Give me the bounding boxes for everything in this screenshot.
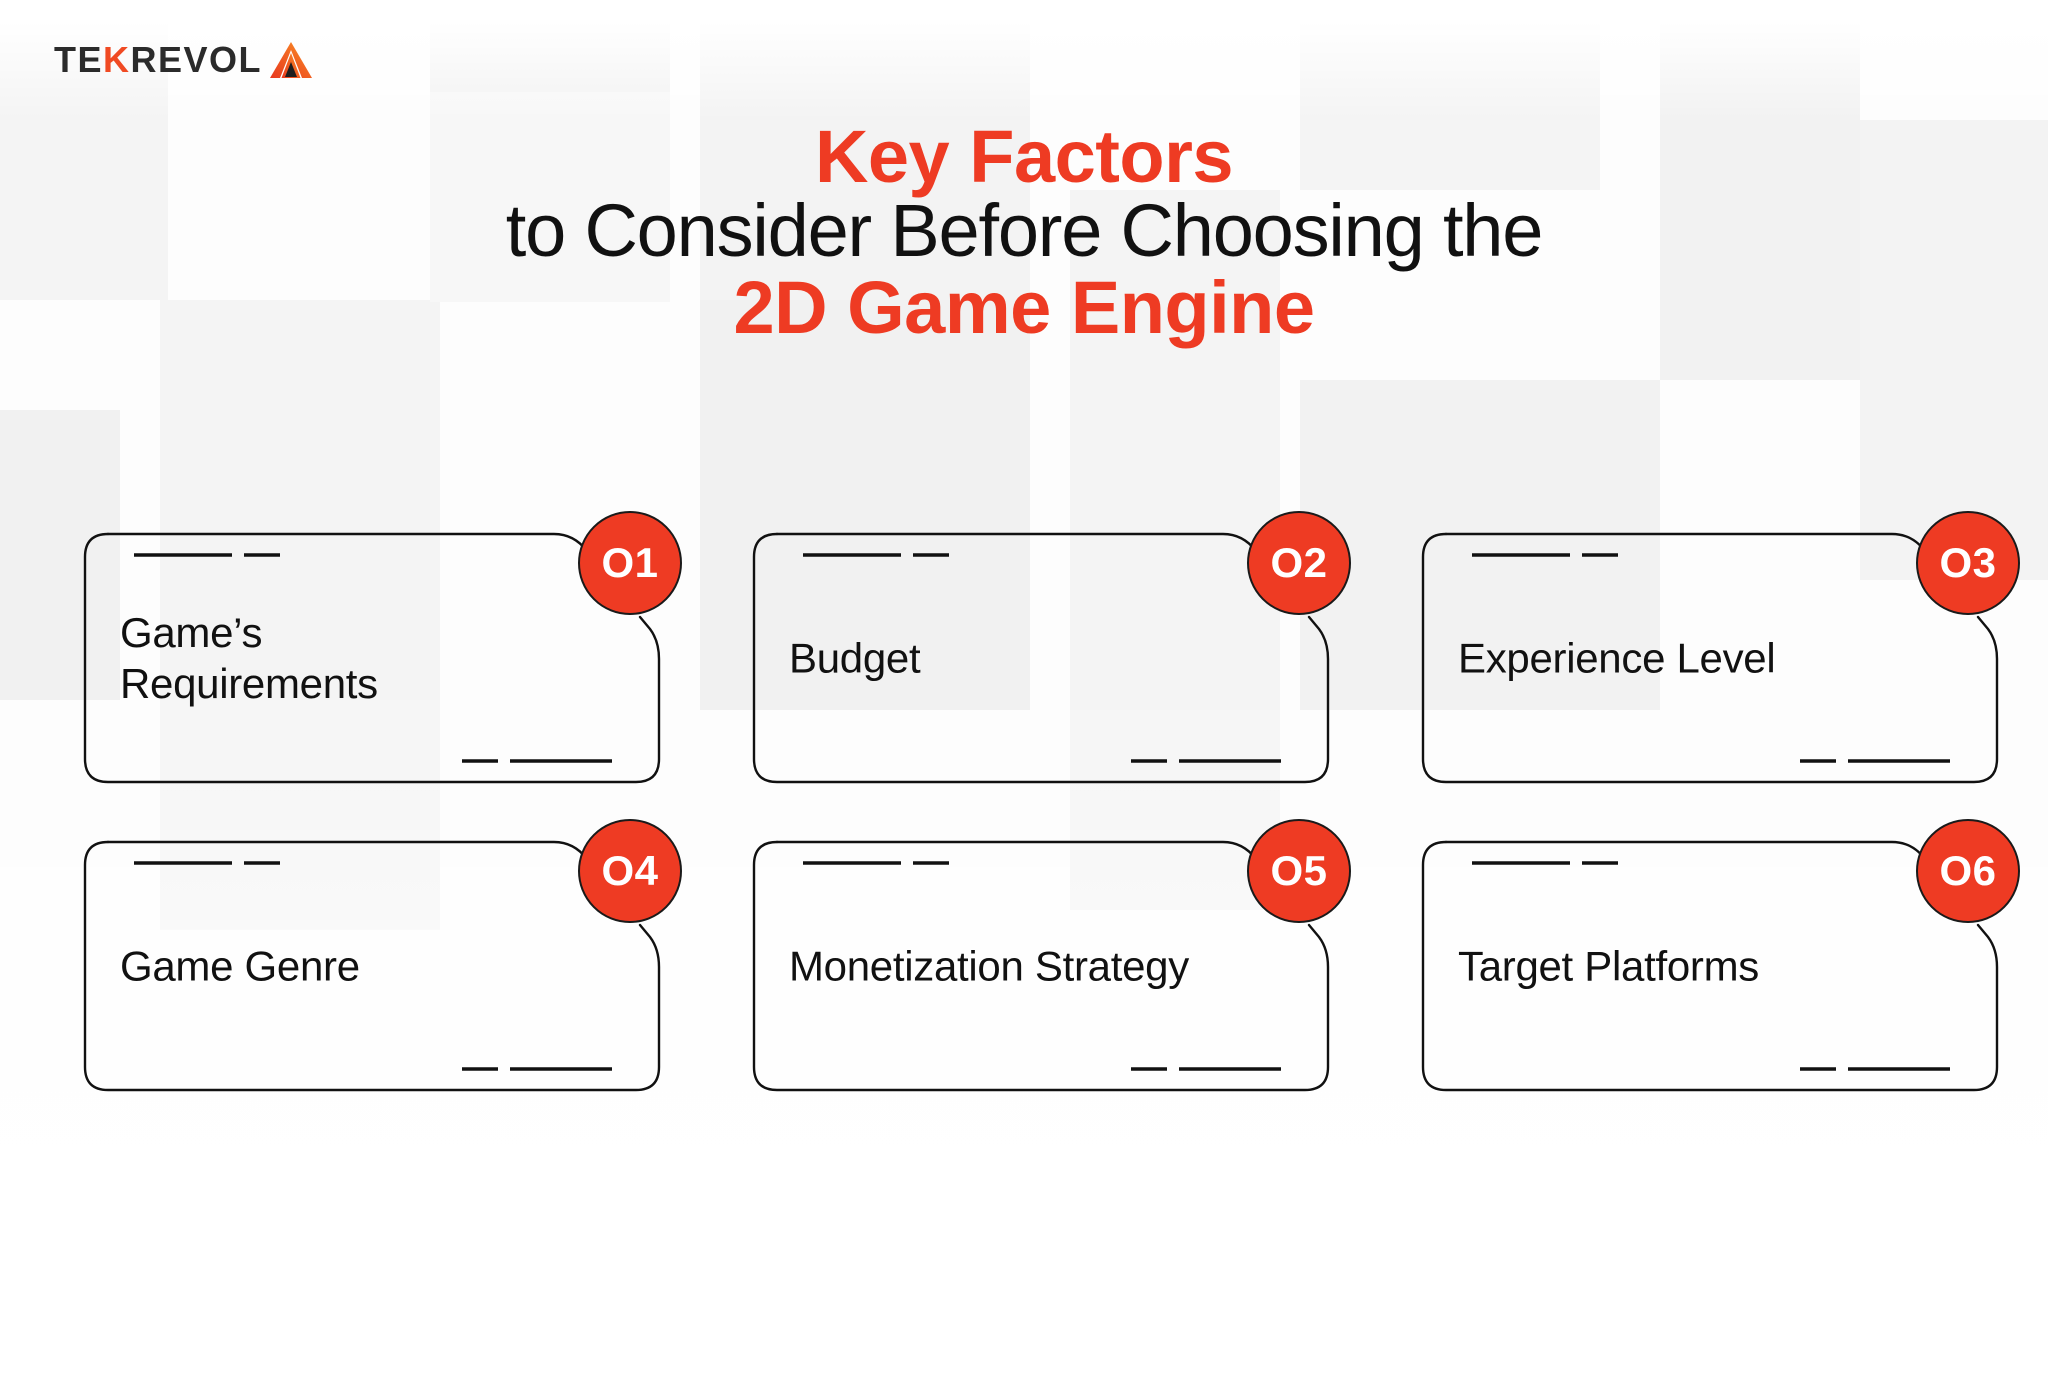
card-label: Budget [789,632,1189,683]
card-label: Game’s Requirements [120,607,520,709]
infographic-canvas: TEKREVOL Key Factors to Consider Before … [0,0,2048,1375]
card-number-badge: O3 [1916,511,2020,615]
logo-text-accent: K [103,42,131,78]
factor-card[interactable]: Game Genre O4 [84,841,660,1091]
title-line-3: 2D Game Engine [0,269,2048,347]
logo-wordmark: TEKREVOL [54,42,262,78]
page-title: Key Factors to Consider Before Choosing … [0,118,2048,347]
card-label: Target Platforms [1458,940,1858,991]
factor-card[interactable]: Budget O2 [753,533,1329,783]
card-number-badge: O4 [578,819,682,923]
card-number-badge: O1 [578,511,682,615]
factor-card[interactable]: Monetization Strategy O5 [753,841,1329,1091]
card-number-badge: O6 [1916,819,2020,923]
title-line-1: Key Factors [0,118,2048,196]
factor-card[interactable]: Experience Level O3 [1422,533,1998,783]
card-label: Monetization Strategy [789,940,1189,991]
factor-card[interactable]: Target Platforms O6 [1422,841,1998,1091]
factor-card-grid: Game’s Requirements O1 Budget O2 [84,533,1964,1091]
tekrevol-triangle-logo-icon [269,40,313,80]
logo-text-rest: REVOL [131,42,263,78]
brand-logo[interactable]: TEKREVOL [54,40,313,80]
title-line-2: to Consider Before Choosing the [0,192,2048,270]
card-label: Game Genre [120,940,520,991]
logo-text-main: TE [54,42,103,78]
factor-card[interactable]: Game’s Requirements O1 [84,533,660,783]
card-number-badge: O5 [1247,819,1351,923]
card-number-badge: O2 [1247,511,1351,615]
card-label: Experience Level [1458,632,1858,683]
